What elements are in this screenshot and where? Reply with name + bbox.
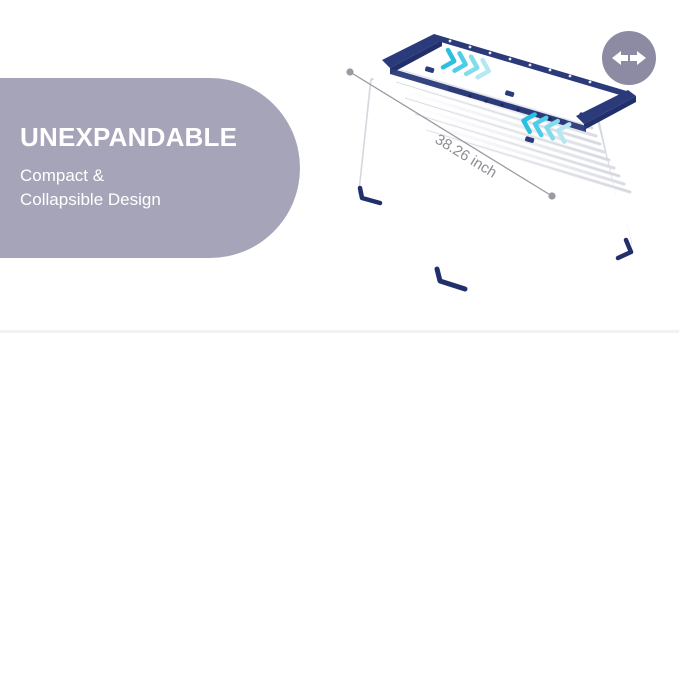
callout-subtitle-line2: Collapsible Design	[20, 190, 161, 209]
callout-title-unexpandable: UNEXPANDABLE	[20, 123, 274, 152]
callout-subtitle-line1: Compact &	[20, 166, 104, 185]
section-unexpandable: 38.26 inch UNEXPANDABLE Compact & Collap…	[0, 0, 679, 330]
arrows-expand-horizontal-icon	[611, 48, 647, 68]
badge-expand	[602, 31, 656, 85]
callout-subtitle-unexpandable: Compact & Collapsible Design	[20, 164, 274, 213]
section-expandable: 63.18 inch EXPANDABLE Provides plenty dr…	[0, 333, 679, 677]
callout-unexpandable: UNEXPANDABLE Compact & Collapsible Desig…	[0, 78, 300, 258]
drying-rack-expanded-illustration: 63.18 inch	[8, 673, 428, 677]
product-infographic: 38.26 inch UNEXPANDABLE Compact & Collap…	[0, 0, 679, 677]
dimension-label-compact: 38.26 inch	[432, 131, 500, 182]
